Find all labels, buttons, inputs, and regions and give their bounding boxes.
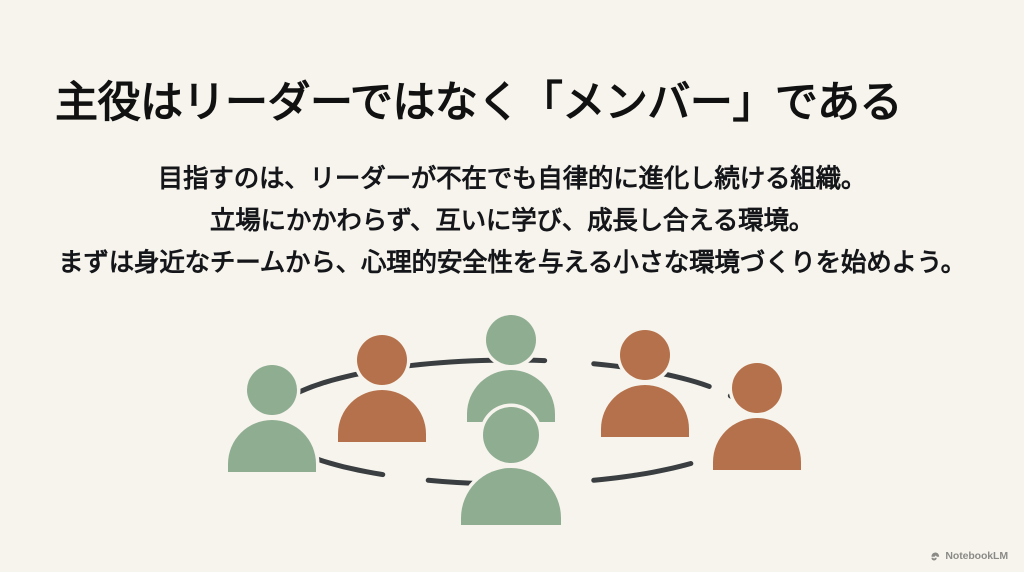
person-right-orange xyxy=(713,360,801,471)
slide-canvas: 主役はリーダーではなく「メンバー」である 目指すのは、リーダーが不在でも自律的に… xyxy=(0,0,1024,572)
person-upper-right-orange-body xyxy=(601,385,689,437)
person-upper-left-orange-head xyxy=(357,335,407,385)
person-right-orange-body xyxy=(713,418,801,470)
body-line-3: まずは身近なチームから、心理的安全性を与える小さな環境づくりを始めよう。 xyxy=(0,242,1024,284)
person-bottom-center-green-head xyxy=(483,407,539,463)
notebooklm-spiral-icon xyxy=(930,551,941,562)
person-bottom-center-green-body xyxy=(461,468,561,525)
person-right-orange-head xyxy=(732,363,782,413)
notebooklm-watermark-label: NotebookLM xyxy=(945,551,1008,562)
person-upper-right-orange xyxy=(601,327,689,438)
page-title: 主役はリーダーではなく「メンバー」である xyxy=(55,77,975,129)
team-network-illustration xyxy=(195,300,845,525)
person-left-green-body xyxy=(228,420,316,472)
person-left-green-head xyxy=(247,365,297,415)
team-network-svg xyxy=(195,300,845,525)
connector-arc-6 xyxy=(594,463,691,480)
person-top-center-green-head xyxy=(486,315,536,365)
person-upper-left-orange-body xyxy=(338,390,426,442)
body-text-block: 目指すのは、リーダーが不在でも自律的に進化し続ける組織。 立場にかかわらず、互い… xyxy=(0,158,1024,284)
notebooklm-watermark: NotebookLM xyxy=(930,551,1008,562)
people-group xyxy=(228,312,801,526)
person-upper-right-orange-head xyxy=(620,330,670,380)
body-line-2: 立場にかかわらず、互いに学び、成長し合える環境。 xyxy=(0,200,1024,242)
person-upper-left-orange xyxy=(338,332,426,443)
person-left-green xyxy=(228,362,316,473)
body-line-1: 目指すのは、リーダーが不在でも自律的に進化し続ける組織。 xyxy=(0,158,1024,200)
